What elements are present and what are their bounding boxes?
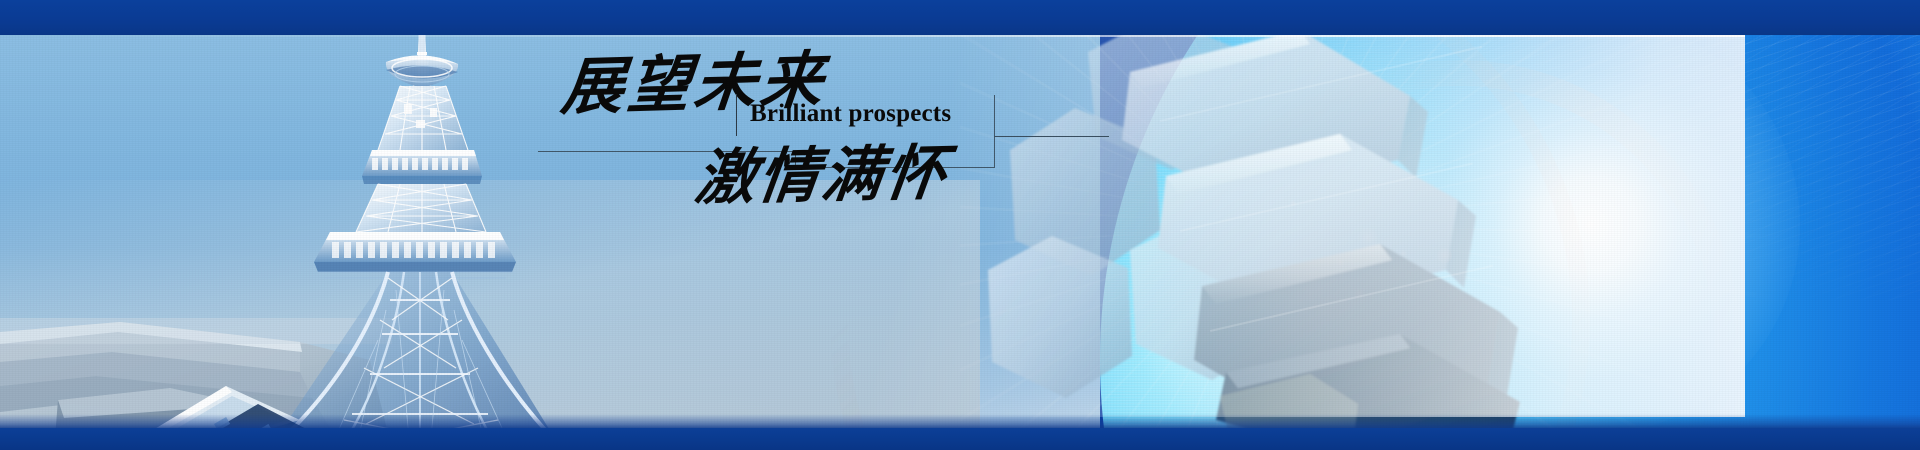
rule-segment-vertical: [994, 95, 995, 168]
top-navy-bar: [0, 0, 1920, 35]
bottom-bar-gradient: [0, 414, 1920, 428]
hero-banner: 展望未来 Brilliant prospects 激情满怀: [0, 0, 1920, 450]
headline-chinese-secondary: 激情满怀: [692, 143, 952, 208]
headline-block: 展望未来 Brilliant prospects 激情满怀: [536, 48, 1056, 228]
honeycomb-pattern-icon: [980, 0, 1600, 450]
bottom-navy-bar: [0, 428, 1920, 450]
headline-divider: [736, 94, 737, 136]
headline-english-tagline: Brilliant prospects: [750, 101, 951, 126]
rule-segment-right: [994, 136, 1109, 137]
